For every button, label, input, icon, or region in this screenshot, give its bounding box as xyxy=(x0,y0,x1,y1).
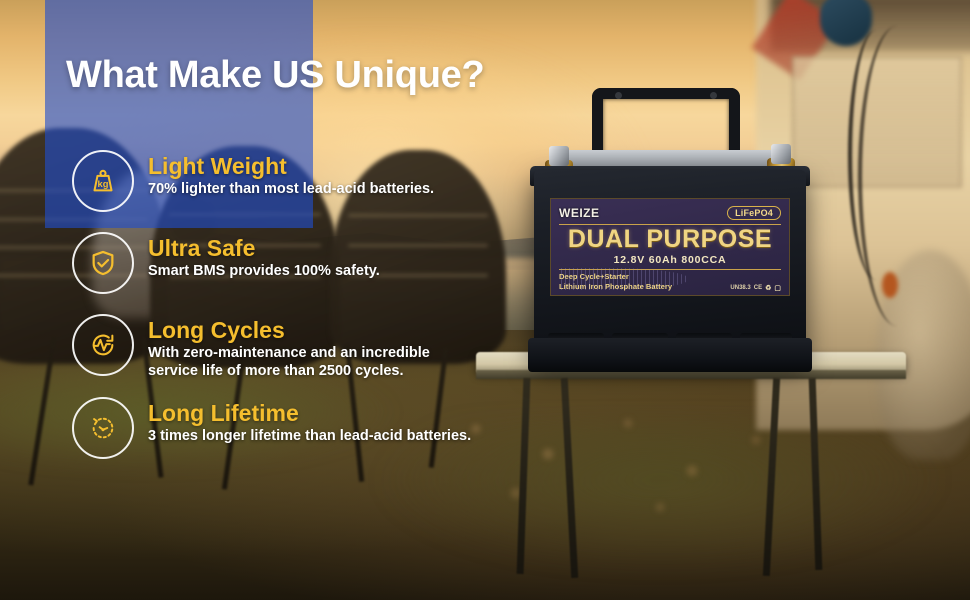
feature-item-long-cycles: Long Cycles With zero-maintenance and an… xyxy=(72,314,592,381)
feature-list: kg Light Weight 70% lighter than most le… xyxy=(72,150,592,479)
feature-description-line2: service life of more than 2500 cycles. xyxy=(148,363,430,381)
feature-title: Light Weight xyxy=(148,154,434,178)
chemistry-badge: LiFePO4 xyxy=(727,206,781,220)
product-title: DUAL PURPOSE xyxy=(559,227,781,252)
feature-description: With zero-maintenance and an incredible … xyxy=(148,345,430,381)
page-title: What Make US Unique? xyxy=(66,54,484,97)
feature-description: 70% lighter than most lead-acid batterie… xyxy=(148,181,434,199)
clock-arrow-icon xyxy=(72,397,134,459)
shield-check-icon xyxy=(72,232,134,294)
feature-title: Long Lifetime xyxy=(148,401,471,425)
feature-description: Smart BMS provides 100% safety. xyxy=(148,263,380,281)
feature-title: Ultra Safe xyxy=(148,236,380,260)
product-specs: 12.8V 60Ah 800CCA xyxy=(559,254,781,266)
feature-item-light-weight: kg Light Weight 70% lighter than most le… xyxy=(72,150,592,212)
svg-text:kg: kg xyxy=(98,179,109,189)
label-divider-bottom xyxy=(559,269,781,270)
weight-kg-icon: kg xyxy=(72,150,134,212)
feature-description: 3 times longer lifetime than lead-acid b… xyxy=(148,428,471,446)
recycle-icon: ♻ xyxy=(765,284,771,292)
waste-bin-icon: ▢ xyxy=(774,284,781,292)
ce-mark: CE xyxy=(754,285,762,291)
feature-item-ultra-safe: Ultra Safe Smart BMS provides 100% safet… xyxy=(72,232,592,294)
feature-title: Long Cycles xyxy=(148,318,430,342)
certification-marks: UN38.3 CE ♻ ▢ xyxy=(730,284,781,292)
cycle-pulse-icon xyxy=(72,314,134,376)
un-certification: UN38.3 xyxy=(730,285,750,291)
feature-description-line1: With zero-maintenance and an incredible xyxy=(148,345,430,363)
feature-item-long-lifetime: Long Lifetime 3 times longer lifetime th… xyxy=(72,397,592,459)
cable-tag xyxy=(882,272,898,298)
promo-banner: WEIZE LiFePO4 DUAL PURPOSE 12.8V 60Ah 80… xyxy=(0,0,970,600)
